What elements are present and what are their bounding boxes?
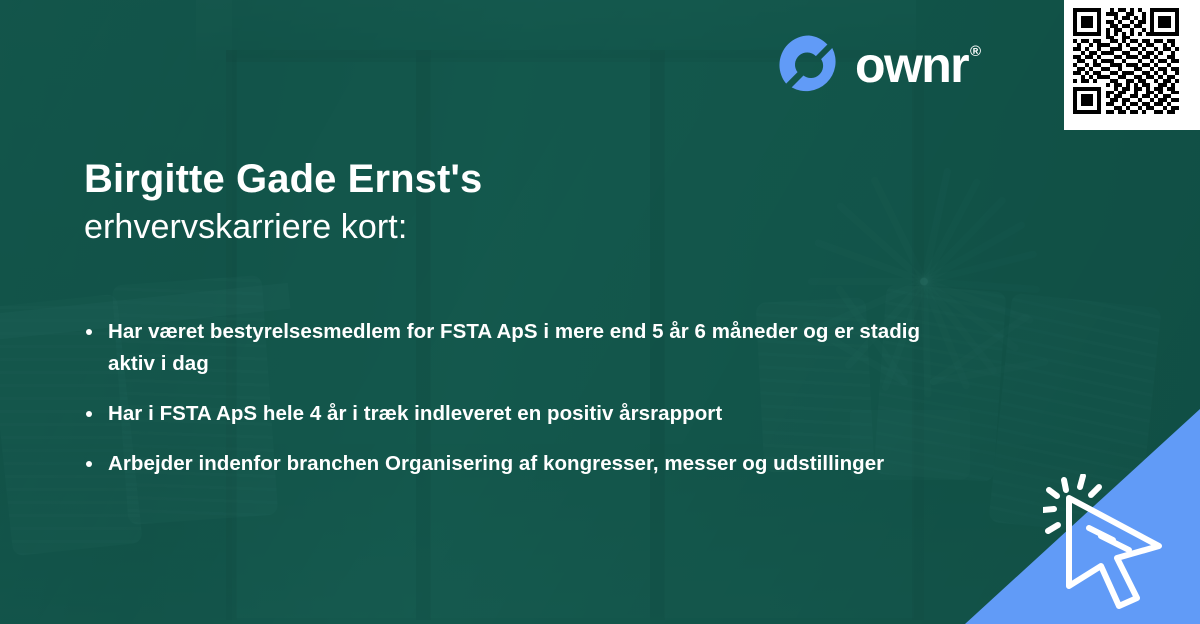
qr-code-icon — [1073, 8, 1191, 122]
list-item-text: Har i FSTA ApS hele 4 år i træk indlever… — [108, 402, 722, 425]
list-item: Har i FSTA ApS hele 4 år i træk indlever… — [84, 398, 964, 430]
career-facts-list: Har været bestyrelsesmedlem for FSTA ApS… — [84, 316, 964, 480]
person-name: Birgitte Gade Ernst's — [84, 155, 804, 204]
blue-corner-decoration — [940, 409, 1200, 624]
qr-code-panel[interactable] — [1064, 0, 1200, 130]
list-item-text: Arbejder indenfor branchen Organisering … — [108, 452, 884, 475]
ownr-logo[interactable]: ownr ® — [778, 34, 981, 96]
ownr-circle-swirl-icon — [778, 34, 840, 96]
page-subtitle: erhvervskarriere kort: — [84, 204, 804, 250]
registered-trademark-symbol: ® — [970, 44, 981, 59]
bullet-dot-icon — [86, 411, 92, 417]
list-item: Har været bestyrelsesmedlem for FSTA ApS… — [84, 316, 964, 380]
click-cursor-icon — [1043, 474, 1173, 609]
bullet-dot-icon — [86, 461, 92, 467]
business-card-image: ownr ® Birgitte Gade Ernst's erhvervskar… — [0, 0, 1200, 624]
list-item: Arbejder indenfor branchen Organisering … — [84, 448, 964, 480]
ownr-wordmark: ownr ® — [855, 40, 981, 90]
bullet-dot-icon — [86, 329, 92, 335]
ownr-wordmark-text: ownr — [855, 40, 968, 90]
page-title: Birgitte Gade Ernst's erhvervskarriere k… — [84, 155, 804, 250]
list-item-text: Har været bestyrelsesmedlem for FSTA ApS… — [108, 320, 920, 375]
